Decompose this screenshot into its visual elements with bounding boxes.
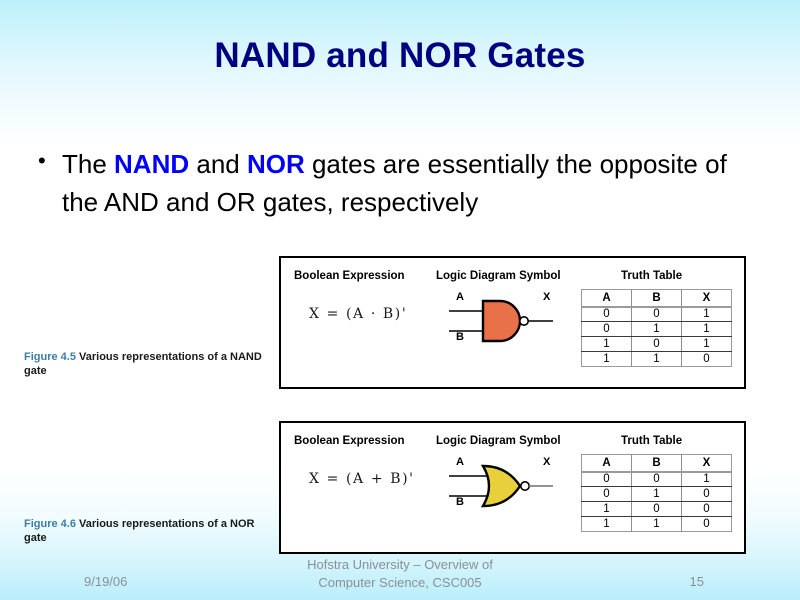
table-row: 1 0 0 [582,502,732,517]
table-row: 1 1 0 [582,352,732,367]
nand-gate-icon [431,284,561,354]
table-header-cell-a: A [582,290,632,307]
table-cell: 1 [682,307,732,322]
table-cell: 0 [632,337,682,352]
column-header-boolean-expression: Boolean Expression [294,435,405,447]
table-header-cell-b: B [632,290,682,307]
table-header-cell-b: B [632,455,682,472]
table-row: 0 0 1 [582,472,732,487]
nor-gate-icon [431,449,561,519]
boolean-expression-nor: X = (A + B)' [309,471,415,487]
table-cell: 0 [632,502,682,517]
truth-table-nand: A B X 0 0 1 0 1 1 1 0 1 1 1 [581,289,732,367]
table-header-row: A B X [582,290,732,307]
page-title: NAND and NOR Gates [0,36,800,76]
table-cell: 1 [682,472,732,487]
table-row: 1 1 0 [582,517,732,532]
figure-caption-nand: Figure 4.5 Various representations of a … [24,350,274,378]
column-header-boolean-expression: Boolean Expression [294,270,405,282]
gate-output-label-x: X [543,456,550,468]
figure-panel-nor: Boolean Expression Logic Diagram Symbol … [279,421,746,554]
truth-table-nor: A B X 0 0 1 0 1 0 1 0 0 1 1 [581,454,732,532]
table-cell: 1 [582,352,632,367]
table-cell: 1 [632,487,682,502]
column-header-logic-diagram-symbol: Logic Diagram Symbol [436,270,561,282]
table-cell: 1 [582,337,632,352]
table-cell: 0 [582,307,632,322]
table-row: 1 0 1 [582,337,732,352]
column-header-logic-diagram-symbol: Logic Diagram Symbol [436,435,561,447]
figure-number-label: Figure 4.5 [24,351,76,363]
gate-input-label-b: B [456,331,464,343]
table-cell: 1 [632,517,682,532]
table-cell: 0 [682,517,732,532]
gate-input-label-b: B [456,496,464,508]
table-cell: 0 [632,472,682,487]
table-header-cell-x: X [682,455,732,472]
bullet-text-part-1: The [62,149,114,179]
table-cell: 1 [682,337,732,352]
gate-input-label-a: A [456,456,464,468]
table-cell: 0 [682,487,732,502]
table-cell: 0 [682,352,732,367]
footer-course-line-1: Hofstra University – Overview of [0,556,800,574]
table-cell: 0 [582,472,632,487]
table-header-cell-x: X [682,290,732,307]
table-cell: 0 [682,502,732,517]
keyword-nor: NOR [247,149,305,179]
bullet-text-part-2: and [189,149,247,179]
table-header-cell-a: A [582,455,632,472]
slide-footer: 9/19/06 Hofstra University – Overview of… [0,554,800,600]
table-cell: 1 [682,322,732,337]
table-cell: 0 [582,322,632,337]
table-cell: 1 [632,322,682,337]
keyword-nand: NAND [114,149,189,179]
column-header-truth-table: Truth Table [621,435,682,447]
logic-diagram-nand: A B X [431,284,561,354]
logic-diagram-nor: A B X [431,449,561,519]
table-row: 0 0 1 [582,307,732,322]
table-header-row: A B X [582,455,732,472]
table-cell: 1 [582,517,632,532]
table-row: 0 1 0 [582,487,732,502]
table-cell: 1 [632,352,682,367]
table-row: 0 1 1 [582,322,732,337]
gate-input-label-a: A [456,291,464,303]
figure-panel-nand: Boolean Expression Logic Diagram Symbol … [279,256,746,389]
bullet-list-item: • The NAND and NOR gates are essentially… [38,145,768,221]
gate-output-label-x: X [543,291,550,303]
bullet-text: The NAND and NOR gates are essentially t… [62,145,752,221]
figure-caption-nor: Figure 4.6 Various representations of a … [24,517,274,545]
footer-page-number: 15 [690,574,704,589]
figure-number-label: Figure 4.6 [24,518,76,530]
table-cell: 0 [632,307,682,322]
column-header-truth-table: Truth Table [621,270,682,282]
table-cell: 1 [582,502,632,517]
slide-body: • The NAND and NOR gates are essentially… [38,145,768,221]
boolean-expression-nand: X = (A · B)' [309,306,407,322]
bullet-dot-icon: • [38,145,62,176]
table-cell: 0 [582,487,632,502]
footer-course-info: Hofstra University – Overview of Compute… [0,556,800,592]
footer-course-line-2: Computer Science, CSC005 [0,574,800,592]
